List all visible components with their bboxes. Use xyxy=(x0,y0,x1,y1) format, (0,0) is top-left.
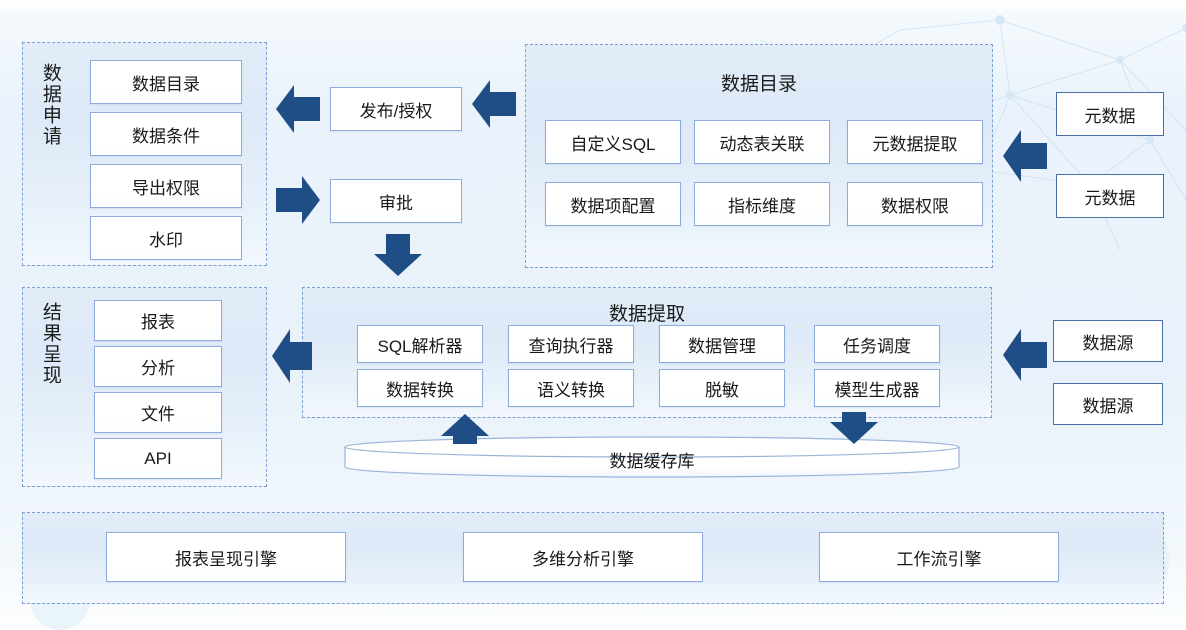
cell-engine-report[interactable]: 报表呈现引擎 xyxy=(106,532,346,582)
cell-publish-authorize[interactable]: 发布/授权 xyxy=(330,87,462,131)
cell-extract-task-scheduling[interactable]: 任务调度 xyxy=(814,325,940,363)
cell-catalog-metric-dimension[interactable]: 指标维度 xyxy=(694,182,830,226)
panel-data-apply-label: 数据申请 xyxy=(39,63,60,147)
cell-apply-watermark[interactable]: 水印 xyxy=(90,216,242,260)
cell-catalog-data-item-config[interactable]: 数据项配置 xyxy=(545,182,681,226)
cell-extract-query-executor[interactable]: 查询执行器 xyxy=(508,325,634,363)
cell-catalog-data-permission[interactable]: 数据权限 xyxy=(847,182,983,226)
cell-extract-desensitization[interactable]: 脱敏 xyxy=(659,369,785,407)
cell-extract-data-transform[interactable]: 数据转换 xyxy=(357,369,483,407)
diagram-canvas: 数据申请 数据目录 数据条件 导出权限 水印 结果呈现 报表 分析 文件 API… xyxy=(0,0,1186,630)
arrow-catalog-to-publish xyxy=(472,78,516,130)
box-metadata-1[interactable]: 元数据 xyxy=(1056,92,1164,136)
box-datasource-2[interactable]: 数据源 xyxy=(1053,383,1163,425)
arrow-approve-down xyxy=(372,234,424,276)
cell-approve[interactable]: 审批 xyxy=(330,179,462,223)
arrow-extract-to-result xyxy=(272,327,312,385)
cell-result-file[interactable]: 文件 xyxy=(94,392,222,433)
cell-catalog-dynamic-table-join[interactable]: 动态表关联 xyxy=(694,120,830,164)
arrow-metadata-to-catalog xyxy=(1003,128,1047,184)
cell-engine-olap[interactable]: 多维分析引擎 xyxy=(463,532,703,582)
arrow-datasource-to-extract xyxy=(1003,327,1047,383)
panel-data-catalog-title: 数据目录 xyxy=(526,69,992,96)
cell-apply-export-permission[interactable]: 导出权限 xyxy=(90,164,242,208)
cell-extract-model-generator[interactable]: 模型生成器 xyxy=(814,369,940,407)
cell-catalog-custom-sql[interactable]: 自定义SQL xyxy=(545,120,681,164)
cell-extract-semantic-transform[interactable]: 语义转换 xyxy=(508,369,634,407)
cell-extract-sql-parser[interactable]: SQL解析器 xyxy=(357,325,483,363)
cache-cylinder-label: 数据缓存库 xyxy=(344,447,960,472)
cell-engine-workflow[interactable]: 工作流引擎 xyxy=(819,532,1059,582)
panel-data-extract-title: 数据提取 xyxy=(303,299,991,326)
arrow-apply-to-approve xyxy=(276,174,320,226)
arrow-cache-up xyxy=(437,414,493,444)
panel-result-presentation-label: 结果呈现 xyxy=(39,302,60,386)
cell-extract-data-management[interactable]: 数据管理 xyxy=(659,325,785,363)
cell-result-report[interactable]: 报表 xyxy=(94,300,222,341)
cell-apply-catalog[interactable]: 数据目录 xyxy=(90,60,242,104)
cell-catalog-metadata-extract[interactable]: 元数据提取 xyxy=(847,120,983,164)
cell-result-analysis[interactable]: 分析 xyxy=(94,346,222,387)
cell-result-api[interactable]: API xyxy=(94,438,222,479)
arrow-extract-down xyxy=(826,412,882,444)
box-metadata-2[interactable]: 元数据 xyxy=(1056,174,1164,218)
arrow-publish-to-apply xyxy=(276,83,320,135)
cell-apply-condition[interactable]: 数据条件 xyxy=(90,112,242,156)
box-datasource-1[interactable]: 数据源 xyxy=(1053,320,1163,362)
